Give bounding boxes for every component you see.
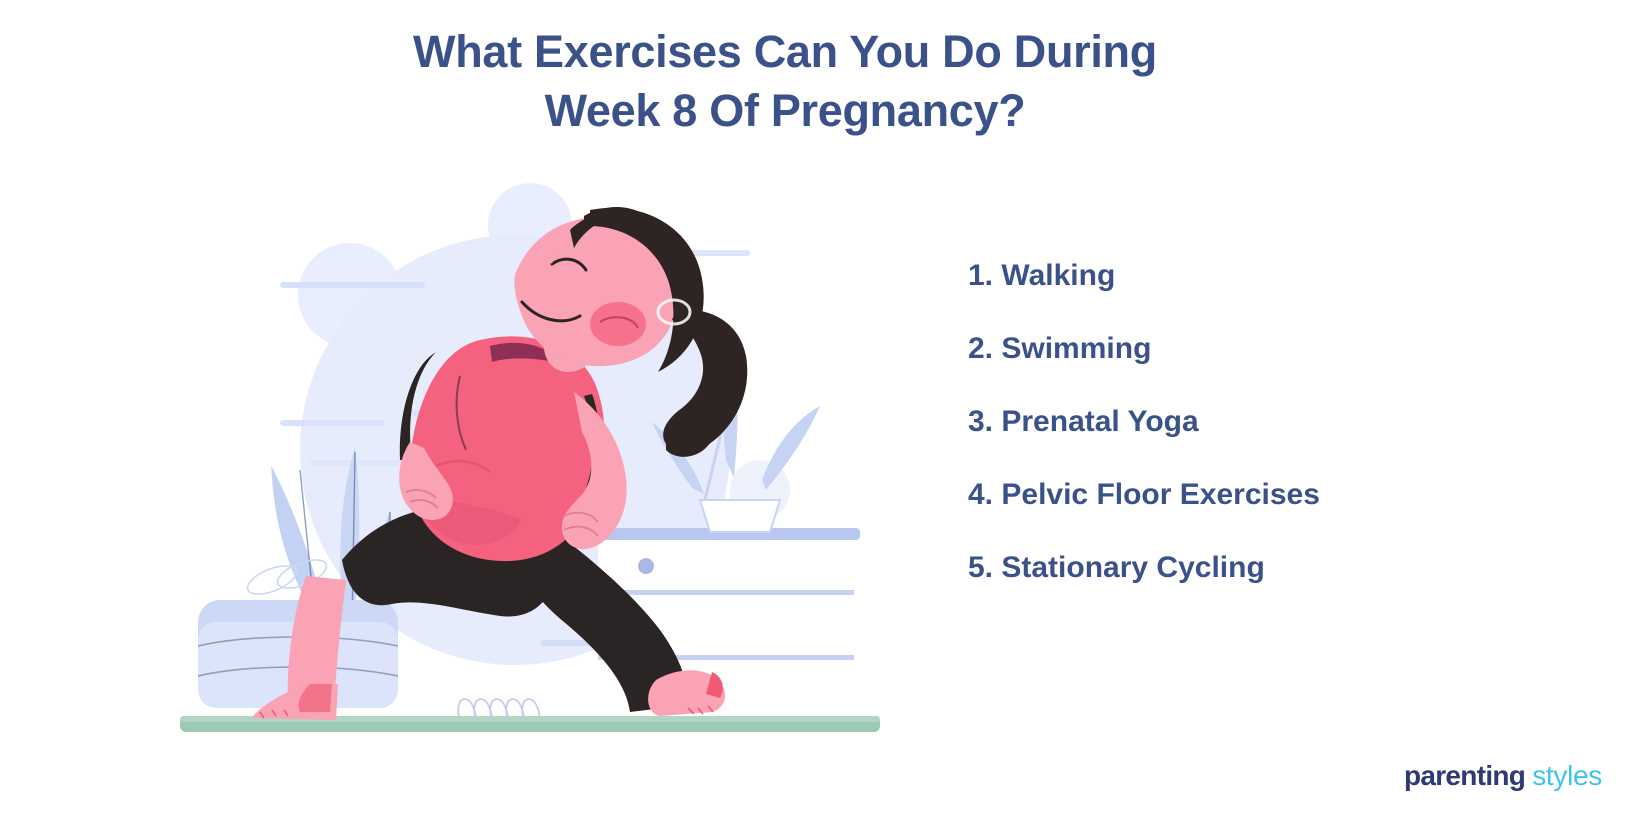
decor-line-4: [280, 420, 385, 426]
list-item-index: 3.: [968, 405, 993, 438]
list-item-label: Swimming: [1001, 332, 1151, 365]
list-item: 3. Prenatal Yoga: [968, 404, 1528, 440]
page-title-line-1: What Exercises Can You Do During: [0, 22, 1570, 81]
decor-line-1: [280, 282, 425, 288]
page-title: What Exercises Can You Do During Week 8 …: [0, 22, 1570, 140]
list-item-index: 2.: [968, 332, 993, 365]
list-item: 5. Stationary Cycling: [968, 550, 1528, 586]
infographic-page: What Exercises Can You Do During Week 8 …: [0, 0, 1640, 840]
figure-ear-blush: [590, 302, 646, 346]
list-item-index: 1.: [968, 259, 993, 292]
list-item-label: Walking: [1001, 259, 1115, 292]
drawer-knob-top: [638, 558, 654, 574]
list-item-label: Stationary Cycling: [1001, 551, 1264, 584]
page-title-line-2: Week 8 Of Pregnancy?: [0, 81, 1570, 140]
brand-logo-secondary: styles: [1532, 760, 1602, 792]
list-item-index: 5.: [968, 551, 993, 584]
exercise-list: 1. Walking 2. Swimming 3. Prenatal Yoga …: [968, 258, 1528, 586]
list-item-label: Pelvic Floor Exercises: [1001, 478, 1320, 511]
list-item: 2. Swimming: [968, 331, 1528, 367]
list-item-label: Prenatal Yoga: [1001, 405, 1198, 438]
list-item: 4. Pelvic Floor Exercises: [968, 477, 1528, 513]
brand-logo-primary: parenting: [1404, 760, 1525, 792]
brand-logo: parenting styles: [1404, 760, 1602, 792]
pregnant-woman-illustration: [160, 160, 920, 760]
list-item: 1. Walking: [968, 258, 1528, 294]
list-item-index: 4.: [968, 478, 993, 511]
